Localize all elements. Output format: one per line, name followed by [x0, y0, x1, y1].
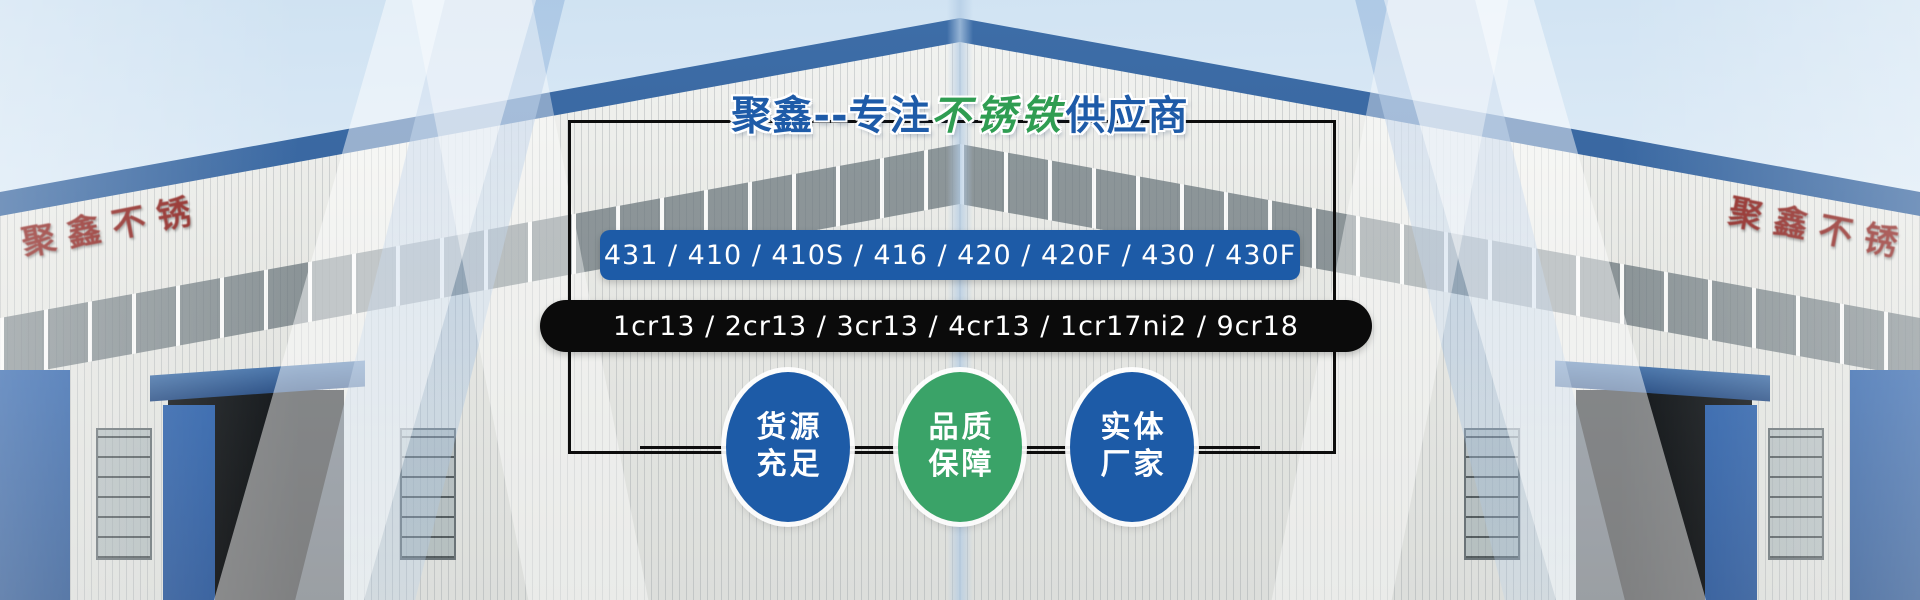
headline-part-2: 不锈铁 [931, 93, 1066, 139]
badge-supply-line-1: 货源 [754, 410, 823, 447]
feature-badge-group: 货源 充足 品质 保障 实体 厂家 [0, 372, 1920, 522]
promo-banner: 聚 鑫 不 锈 聚 鑫 不 锈 聚鑫--专注不锈铁供应商 431 / 410 /… [0, 0, 1920, 600]
banner-content: 聚鑫--专注不锈铁供应商 431 / 410 / 410S / 416 / 42… [0, 0, 1920, 600]
badge-supply-line-2: 充足 [754, 447, 823, 484]
feature-badge-quality: 品质 保障 [898, 372, 1022, 522]
headline-part-3: 供应商 [1066, 93, 1189, 139]
badge-quality-line-2: 保障 [926, 447, 995, 484]
badge-factory-line-1: 实体 [1098, 410, 1167, 447]
alloy-codes-bar: 1cr13 / 2cr13 / 3cr13 / 4cr13 / 1cr17ni2… [540, 300, 1372, 352]
badge-quality-line-1: 品质 [926, 410, 995, 447]
feature-badge-factory: 实体 厂家 [1070, 372, 1194, 522]
headline-part-1: 聚鑫--专注 [731, 93, 930, 139]
badge-factory-line-2: 厂家 [1098, 447, 1167, 484]
feature-badge-supply: 货源 充足 [726, 372, 850, 522]
steel-grades-bar: 431 / 410 / 410S / 416 / 420 / 420F / 43… [600, 230, 1300, 280]
page-title: 聚鑫--专注不锈铁供应商 [0, 83, 1920, 141]
